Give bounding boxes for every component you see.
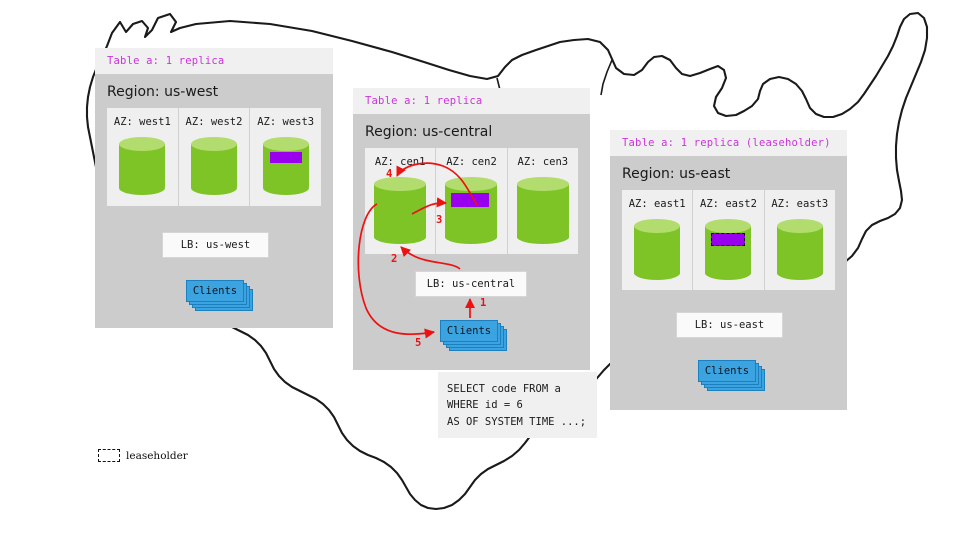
replica-cylinder-east3[interactable] (777, 219, 823, 280)
clients-us-east[interactable]: Clients (698, 360, 768, 390)
az-cell-east2[interactable]: AZ: east2 (693, 190, 764, 290)
cylinder-body (634, 226, 680, 274)
clients-us-central[interactable]: Clients (440, 320, 510, 350)
flow-step-number-1: 1 (480, 297, 486, 309)
az-label: AZ: east2 (700, 198, 757, 210)
az-cell-west3[interactable]: AZ: west3 (250, 108, 321, 206)
table-replica-label: Table a: 1 replica (95, 48, 333, 74)
clients-label[interactable]: Clients (698, 360, 756, 382)
replica-cylinder-west1[interactable] (119, 137, 165, 195)
flow-step-number-4: 4 (386, 168, 392, 180)
az-label: AZ: cen2 (446, 156, 497, 168)
flow-step-number-3: 3 (436, 214, 442, 226)
az-row: AZ: west1 AZ: west2 AZ: west3 (107, 108, 321, 206)
replica-cylinder-east1[interactable] (634, 219, 680, 280)
cylinder-body (374, 184, 426, 238)
region-title: Region: us-west (95, 74, 333, 108)
sql-query-box: SELECT code FROM a WHERE id = 6 AS OF SY… (438, 372, 597, 438)
replica-cylinder-west2[interactable] (191, 137, 237, 195)
region-title: Region: us-central (353, 114, 590, 148)
table-replica-label: Table a: 1 replica (353, 88, 590, 114)
flow-step-number-5: 5 (415, 337, 421, 349)
cylinder-top (517, 177, 569, 191)
legend-label: leaseholder (126, 450, 188, 462)
az-cell-cen1[interactable]: AZ: cen1 (365, 148, 436, 254)
az-cell-west1[interactable]: AZ: west1 (107, 108, 179, 206)
az-label: AZ: east3 (771, 198, 828, 210)
replica-cylinder-cen2[interactable] (445, 177, 497, 244)
diagram-canvas: Table a: 1 replica Region: us-west AZ: w… (0, 0, 960, 540)
flow-step-number-2: 2 (391, 253, 397, 265)
az-row: AZ: cen1 AZ: cen2 AZ: cen3 (365, 148, 578, 254)
dashed-rect-icon (98, 449, 120, 462)
cylinder-top (119, 137, 165, 151)
az-cell-east1[interactable]: AZ: east1 (622, 190, 693, 290)
replica-cylinder-east2[interactable] (705, 219, 751, 280)
az-cell-west2[interactable]: AZ: west2 (179, 108, 251, 206)
replica-cylinder-west3[interactable] (263, 137, 309, 195)
clients-label[interactable]: Clients (186, 280, 244, 302)
az-cell-cen2[interactable]: AZ: cen2 (436, 148, 507, 254)
load-balancer-us-west[interactable]: LB: us-west (162, 232, 269, 258)
az-label: AZ: east1 (629, 198, 686, 210)
table-replica-label: Table a: 1 replica (leaseholder) (610, 130, 847, 156)
replica-marker-cen2 (451, 193, 489, 207)
az-cell-cen3[interactable]: AZ: cen3 (508, 148, 578, 254)
cylinder-top (374, 177, 426, 191)
az-label: AZ: west1 (114, 116, 171, 128)
replica-cylinder-cen3[interactable] (517, 177, 569, 244)
cylinder-top (634, 219, 680, 233)
az-label: AZ: west3 (257, 116, 314, 128)
cylinder-top (191, 137, 237, 151)
az-cell-east3[interactable]: AZ: east3 (765, 190, 835, 290)
az-label: AZ: west2 (186, 116, 243, 128)
region-title: Region: us-east (610, 156, 847, 190)
clients-label[interactable]: Clients (440, 320, 498, 342)
replica-cylinder-cen1[interactable] (374, 177, 426, 244)
cylinder-top (263, 137, 309, 151)
load-balancer-us-east[interactable]: LB: us-east (676, 312, 783, 338)
cylinder-body (777, 226, 823, 274)
legend-leaseholder: leaseholder (98, 449, 188, 462)
replica-marker-west3 (270, 152, 302, 163)
az-label: AZ: cen1 (375, 156, 426, 168)
load-balancer-us-central[interactable]: LB: us-central (415, 271, 527, 297)
az-label: AZ: cen3 (518, 156, 569, 168)
az-row: AZ: east1 AZ: east2 AZ: east3 (622, 190, 835, 290)
cylinder-body (517, 184, 569, 238)
cylinder-top (777, 219, 823, 233)
replica-marker-east2-leaseholder (711, 233, 745, 246)
clients-us-west[interactable]: Clients (186, 280, 252, 310)
